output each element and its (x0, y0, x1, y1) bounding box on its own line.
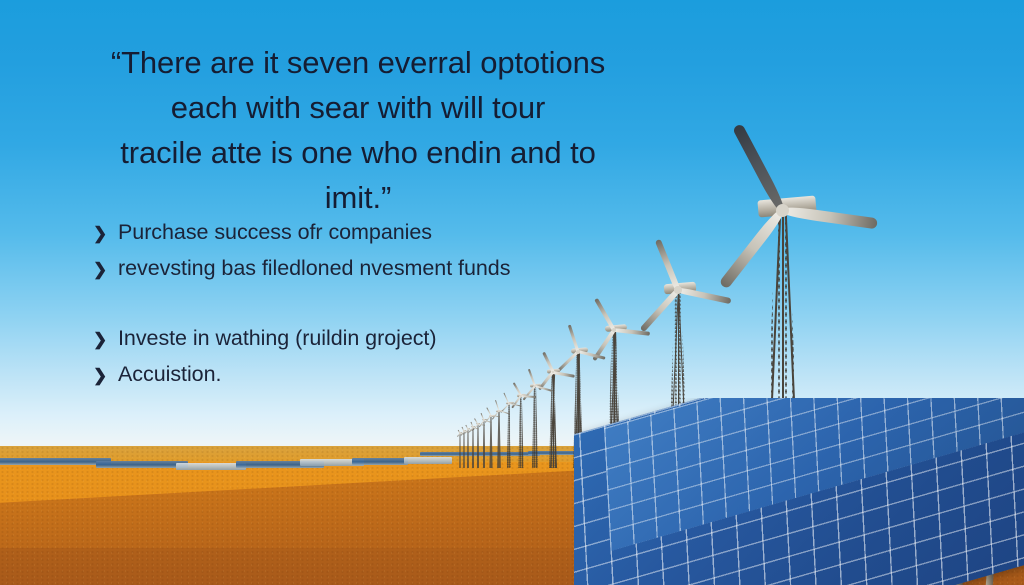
turbine-hub (459, 432, 461, 434)
turbine-hub (776, 204, 789, 217)
turbine-hub (498, 410, 500, 412)
distant-solar-row (96, 461, 188, 468)
slide-canvas: “There are it seven everral optotions ea… (0, 0, 1024, 585)
chevron-right-icon: ❯ (93, 331, 118, 348)
turbine-hub (463, 430, 465, 432)
bullet-label: revevsting bas filedloned nvesment funds (118, 258, 510, 280)
turbine-hub (508, 403, 510, 405)
solar-panel-array (574, 398, 1024, 585)
bullet-label: Purchase success ofr companies (118, 222, 432, 244)
bullet-label: Investe in wathing (ruildin groject) (118, 328, 436, 350)
turbine-hub (483, 419, 485, 421)
bullet-item: ❯Investe in wathing (ruildin groject) (93, 328, 713, 364)
distant-solar-row (352, 458, 408, 465)
quote-text: “There are it seven everral optotions ea… (58, 40, 658, 220)
bullet-group-spacer (93, 294, 713, 328)
turbine-hub (490, 415, 492, 417)
bullet-label: Accuistion. (118, 364, 221, 386)
turbine-hub (477, 423, 479, 425)
bullet-item: ❯Accuistion. (93, 364, 713, 400)
distant-solar-row (0, 458, 111, 465)
turbine-blade (478, 424, 485, 426)
chevron-right-icon: ❯ (93, 225, 118, 242)
bullet-item: ❯Purchase success ofr companies (93, 222, 713, 258)
distant-solar-row (404, 457, 452, 464)
turbine-hub (467, 428, 469, 430)
bullet-list: ❯Purchase success ofr companies❯revevsti… (93, 222, 713, 400)
bullet-item: ❯revevsting bas filedloned nvesment fund… (93, 258, 713, 294)
turbine-hub (472, 426, 474, 428)
chevron-right-icon: ❯ (93, 367, 118, 384)
chevron-right-icon: ❯ (93, 261, 118, 278)
